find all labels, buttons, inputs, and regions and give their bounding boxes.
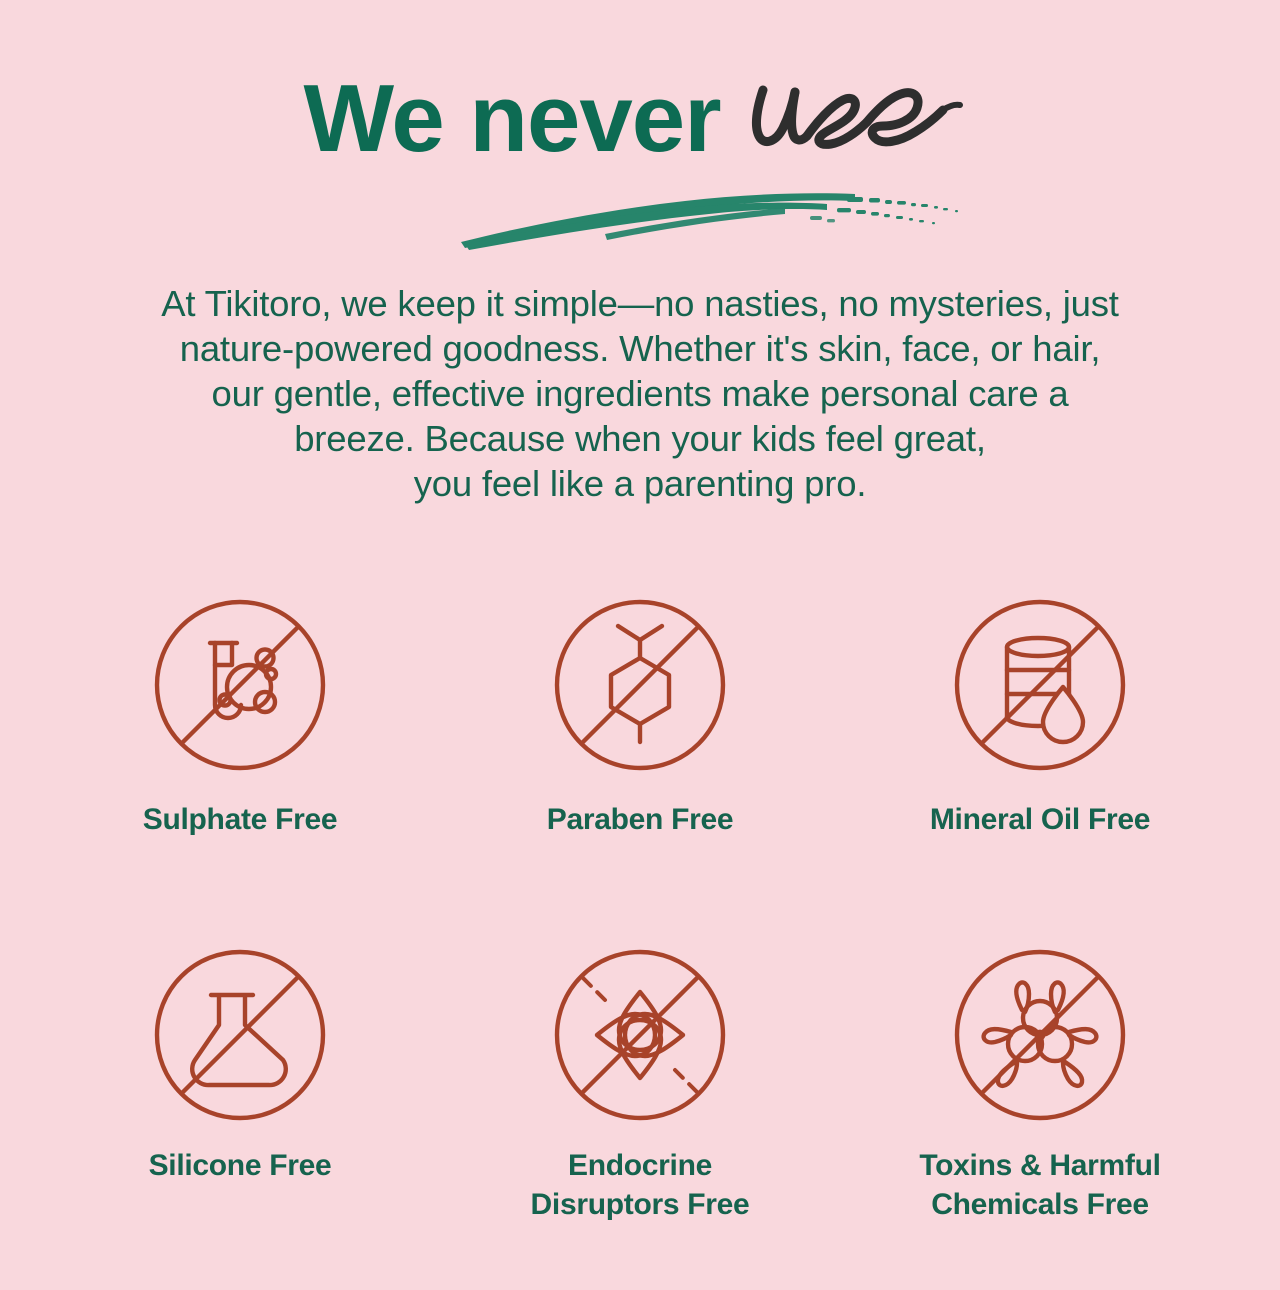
no-silicone-flask-icon [145,940,335,1130]
badge-label: Sulphate Free [143,800,337,839]
badge-sulphate-free: Sulphate Free [40,590,440,940]
brush-stroke-underline-icon [455,186,975,256]
no-sulphate-test-tube-bubbles-icon [145,590,335,780]
intro-line: nature-powered goodness. Whether it's sk… [72,326,1208,371]
no-paraben-benzene-molecule-icon [545,590,735,780]
no-endocrine-disruptor-flower-icon [545,940,735,1130]
badge-toxins-chemicals-free: Toxins & Harmful Chemicals Free [840,940,1240,1290]
claims-grid: Sulphate Free Paraben Free [40,590,1240,1290]
badge-label: Paraben Free [547,800,734,839]
intro-line: you feel like a parenting pro. [72,461,1208,506]
badge-label: Endocrine Disruptors Free [531,1146,750,1224]
intro-line: breeze. Because when your kids feel grea… [72,416,1208,461]
no-mineral-oil-barrel-droplet-icon [945,590,1135,780]
badge-label: Silicone Free [149,1146,332,1185]
badge-label: Toxins & Harmful Chemicals Free [919,1146,1160,1224]
badge-mineral-oil-free: Mineral Oil Free [840,590,1240,940]
headline-main-text: We never [303,69,720,170]
badge-paraben-free: Paraben Free [440,590,840,940]
intro-line: At Tikitoro, we keep it simple—no nastie… [72,281,1208,326]
badge-endocrine-disruptors-free: Endocrine Disruptors Free [440,940,840,1290]
badge-silicone-free: Silicone Free [40,940,440,1290]
headline: We never use [0,64,1280,174]
promo-panel: We never use [0,0,1280,1281]
no-toxins-biohazard-icon [945,940,1135,1130]
intro-line: our gentle, effective ingredients make p… [72,371,1208,416]
intro-paragraph: At Tikitoro, we keep it simple—no nastie… [72,281,1208,506]
headline-script-word-use: use [727,60,977,170]
badge-label: Mineral Oil Free [930,800,1150,839]
